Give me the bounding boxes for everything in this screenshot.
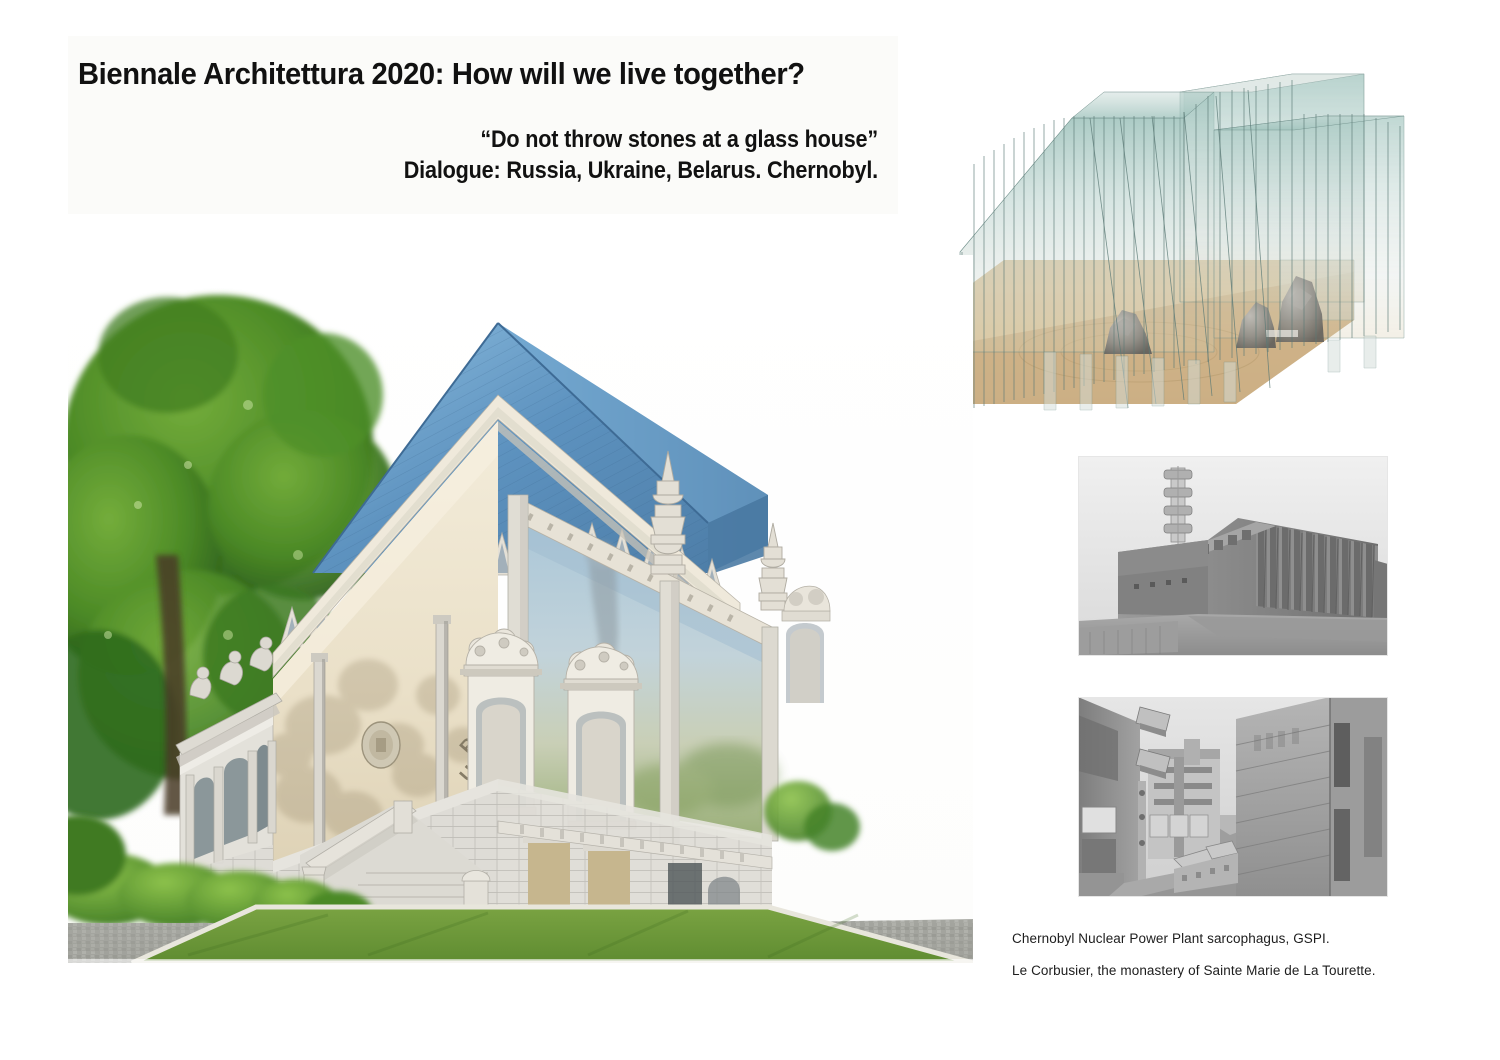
la-tourette-photo — [1078, 697, 1388, 897]
presentation-board: Biennale Architettura 2020: How will we … — [0, 0, 1500, 1060]
subtitle-block: “Do not throw stones at a glass house” D… — [40, 124, 878, 186]
right-concrete-wall — [1236, 697, 1388, 897]
pavilion-crest-emblem — [362, 722, 400, 768]
statue-niche — [782, 586, 830, 703]
subtitle-dialogue: Dialogue: Russia, Ukraine, Belarus. Cher… — [124, 155, 878, 186]
page-title: Biennale Architettura 2020: How will we … — [78, 56, 886, 92]
chernobyl-photo-caption: Chernobyl Nuclear Power Plant sarcophagu… — [1012, 931, 1330, 946]
la-tourette-photo-caption: Le Corbusier, the monastery of Sainte Ma… — [1012, 963, 1376, 978]
subtitle-quote: “Do not throw stones at a glass house” — [124, 124, 878, 155]
ground-berm — [1078, 614, 1388, 656]
chernobyl-sarcophagus-photo — [1078, 456, 1388, 656]
russian-pavilion-exterior-render: RUSSIA UKRAINE BELARUS — [68, 255, 973, 963]
